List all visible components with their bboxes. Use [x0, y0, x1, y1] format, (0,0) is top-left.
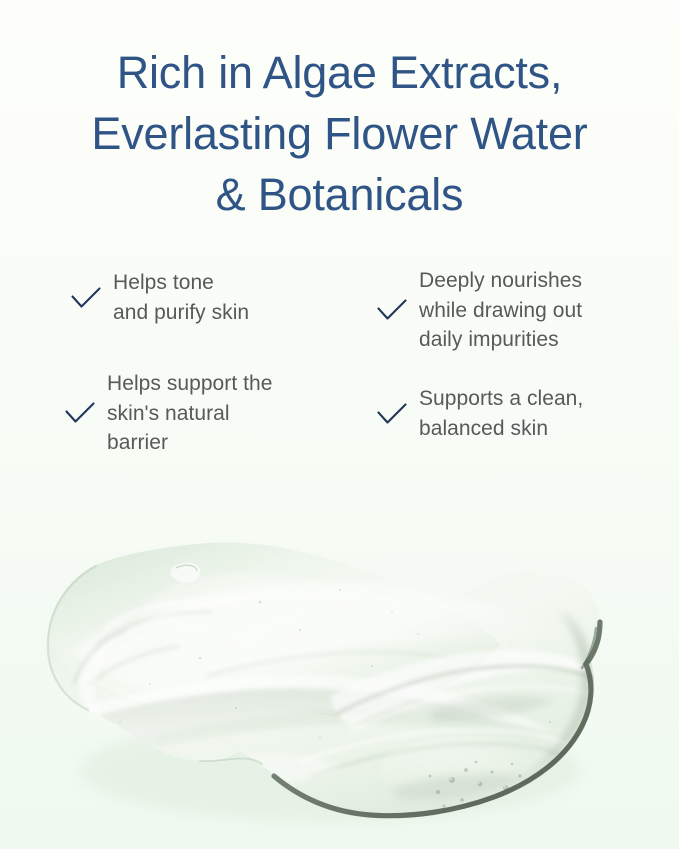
benefit-item-4-label: Supports a clean, balanced skin — [419, 384, 583, 443]
benefit-item-3: Deeply nourishes while drawing out daily… — [377, 266, 582, 355]
checkmark-icon — [65, 402, 95, 424]
benefit-item-1-label: Helps tone and purify skin — [113, 268, 249, 327]
checkmark-icon — [71, 287, 101, 309]
benefit-item-1: Helps tone and purify skin — [71, 268, 249, 327]
checkmark-icon — [377, 403, 407, 425]
benefit-item-3-label: Deeply nourishes while drawing out daily… — [419, 266, 582, 355]
checkmark-icon — [377, 299, 407, 321]
product-benefits-poster: Rich in Algae Extracts, Everlasting Flow… — [0, 0, 679, 849]
gel-texture-swatch — [0, 470, 679, 849]
page-title: Rich in Algae Extracts, Everlasting Flow… — [0, 42, 679, 225]
benefit-item-2: Helps support the skin's natural barrier — [65, 369, 272, 458]
benefit-item-4: Supports a clean, balanced skin — [377, 384, 583, 443]
benefits-list: Helps tone and purify skin Helps support… — [0, 266, 679, 466]
benefit-item-2-label: Helps support the skin's natural barrier — [107, 369, 272, 458]
